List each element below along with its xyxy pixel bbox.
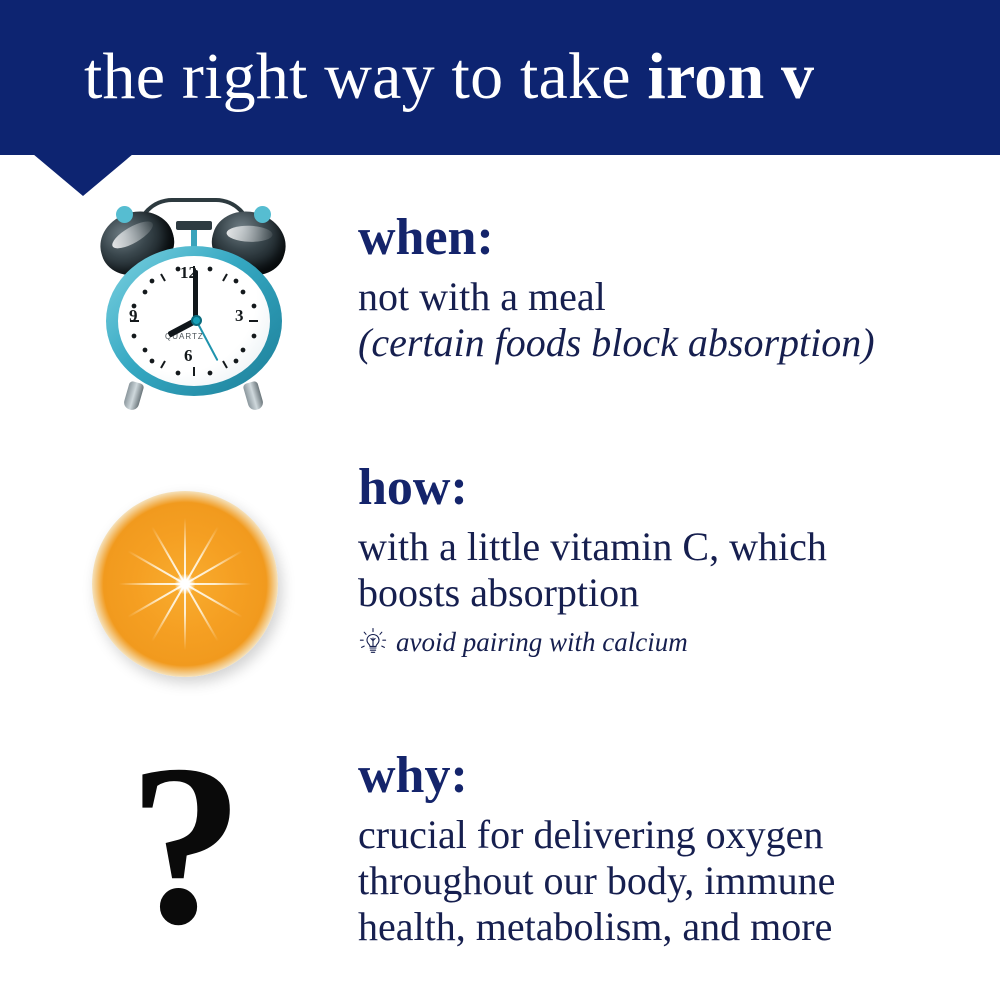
clock-minute-hand <box>193 270 198 320</box>
question-mark-glyph: ? <box>129 745 244 945</box>
orange-slice-icon <box>90 489 280 679</box>
section-how-heading: how: <box>358 460 958 516</box>
clock-dial: 12 3 6 9 QUARTZ <box>118 256 270 386</box>
section-why-line-3: health, metabolism, and more <box>358 904 968 950</box>
clock-hammer-head <box>176 221 212 230</box>
clock-numeral-9: 9 <box>129 306 138 326</box>
clock-bezel: 12 3 6 9 QUARTZ <box>106 246 282 396</box>
section-when: when: not with a meal (certain foods blo… <box>358 210 958 366</box>
clock-bell-cap-left <box>116 206 133 223</box>
bell-shine-right <box>226 225 273 243</box>
clock-numeral-3: 3 <box>235 306 244 326</box>
alarm-clock-icon: 12 3 6 9 QUARTZ <box>94 196 294 411</box>
orange-slice-graphic <box>92 491 278 677</box>
section-when-line-1: not with a meal <box>358 274 958 320</box>
header-banner: the right way to take iron v <box>0 0 1000 155</box>
section-how-tip: avoid pairing with calcium <box>358 626 958 658</box>
clock-numeral-6: 6 <box>184 346 193 366</box>
lightbulb-icon <box>358 627 388 657</box>
section-why: why: crucial for delivering oxygen throu… <box>358 748 968 950</box>
page-title-plain: the right way to take <box>84 40 647 113</box>
clock-foot-left <box>122 380 144 411</box>
bell-shine-left <box>109 216 157 253</box>
clock-center-pivot <box>191 315 202 326</box>
section-how: how: with a little vitamin C, which boos… <box>358 460 958 658</box>
section-how-line-1: with a little vitamin C, which <box>358 524 958 570</box>
banner-pointer-tail <box>33 154 133 196</box>
section-why-heading: why: <box>358 748 968 804</box>
section-when-heading: when: <box>358 210 958 266</box>
clock-foot-right <box>242 380 264 411</box>
section-why-line-2: throughout our body, immune <box>358 858 968 904</box>
section-why-line-1: crucial for delivering oxygen <box>358 812 968 858</box>
section-how-line-2: boosts absorption <box>358 570 958 616</box>
page-title-bold: iron v <box>647 40 814 113</box>
section-when-line-2: (certain foods block absorption) <box>358 320 958 366</box>
clock-bell-cap-right <box>254 206 271 223</box>
lightbulb-icon-svg <box>358 627 388 657</box>
question-mark-icon: ? <box>96 745 276 945</box>
section-how-tip-text: avoid pairing with calcium <box>396 626 688 658</box>
alarm-clock-graphic: 12 3 6 9 QUARTZ <box>94 196 294 411</box>
page-title: the right way to take iron v <box>84 38 964 116</box>
orange-core <box>175 574 195 594</box>
